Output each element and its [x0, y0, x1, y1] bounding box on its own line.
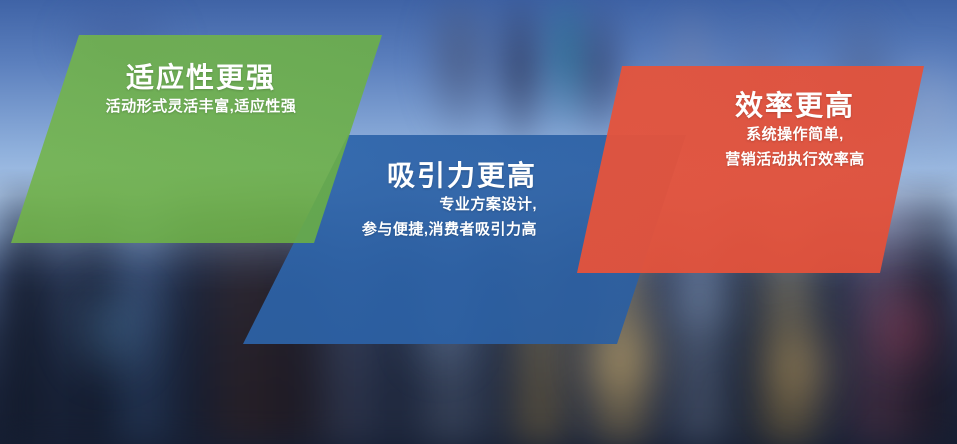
- orange-parallelogram-shape: [0, 0, 957, 444]
- orange-panel-text-block: 效率更高 系统操作简单, 营销活动执行效率高: [672, 88, 918, 173]
- orange-panel-subtitle-line-1: 系统操作简单,: [672, 123, 918, 148]
- orange-panel-title: 效率更高: [672, 88, 918, 123]
- orange-panel-subtitle-line-2: 营销活动执行效率高: [672, 148, 918, 173]
- promo-banner: 吸引力更高 专业方案设计, 参与便捷,消费者吸引力高 适应性更强 活动形式灵活丰…: [0, 0, 957, 444]
- orange-panel-subtitle: 系统操作简单, 营销活动执行效率高: [672, 123, 918, 173]
- feature-panel-efficiency[interactable]: 效率更高 系统操作简单, 营销活动执行效率高: [0, 0, 957, 444]
